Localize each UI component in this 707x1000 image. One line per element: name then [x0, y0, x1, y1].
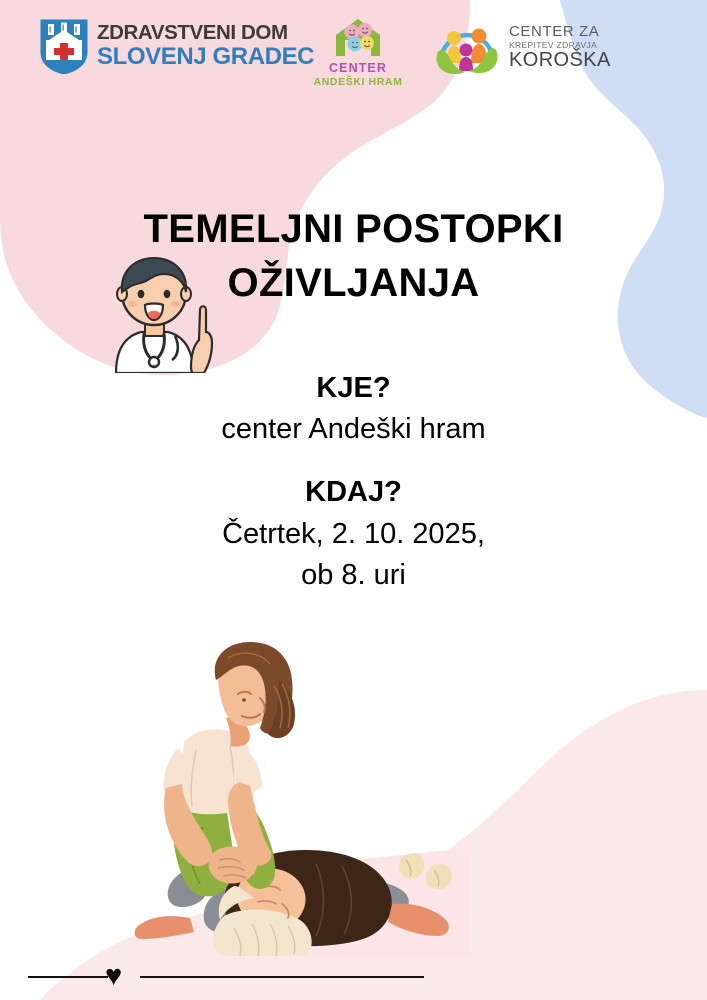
logo-center-andeski-hram: CENTER ANDEŠKI HRAM [310, 16, 406, 88]
event-details: KJE? center Andeški hram KDAJ? Četrtek, … [0, 368, 707, 596]
when-value-date: Četrtek, 2. 10. 2025, [0, 514, 707, 555]
logo-kz-line1: CENTER ZA [509, 24, 611, 39]
headline-line1: TEMELJNI POSTOPKI [144, 207, 564, 251]
where-label: KJE? [0, 368, 707, 409]
logo-kz-line2: KREPITEV ZDRAVJA [509, 41, 611, 50]
where-value: center Andeški hram [0, 409, 707, 450]
heart-icon: ♥ [105, 962, 122, 991]
logo-zd-line2: SLOVENJ GRADEC [97, 45, 314, 69]
footer-divider: ♥ [0, 962, 707, 992]
logo-row: ZDRAVSTVENI DOM SLOVENJ GRADEC [0, 0, 707, 95]
logo-zd-line1: ZDRAVSTVENI DOM [97, 23, 314, 44]
green-house-with-smiley-faces-icon [330, 16, 386, 58]
poster: ZDRAVSTVENI DOM SLOVENJ GRADEC [0, 0, 707, 1000]
logo-kz-line3: KOROŠKA [509, 50, 611, 70]
shield-with-red-cross-icon [40, 18, 88, 74]
when-value-time: ob 8. uri [0, 555, 707, 596]
divider-line-left [28, 976, 108, 978]
when-label: KDAJ? [0, 472, 707, 513]
logo-zdravstveni-dom-slovenj-gradec: ZDRAVSTVENI DOM SLOVENJ GRADEC [40, 18, 314, 74]
logo-ah-line1: CENTER [310, 61, 406, 75]
logo-center-za-krepitev-zdravja-koroska: CENTER ZA KREPITEV ZDRAVJA KOROŠKA [432, 16, 611, 78]
logo-ah-line2: ANDEŠKI HRAM [310, 76, 406, 88]
divider-line-right [140, 976, 424, 978]
details-spacer [0, 450, 707, 472]
cpr-chest-compression-illustration [130, 636, 470, 956]
family-in-hands-icon [432, 16, 502, 78]
cartoon-doctor-pointing-up-icon [96, 248, 214, 373]
